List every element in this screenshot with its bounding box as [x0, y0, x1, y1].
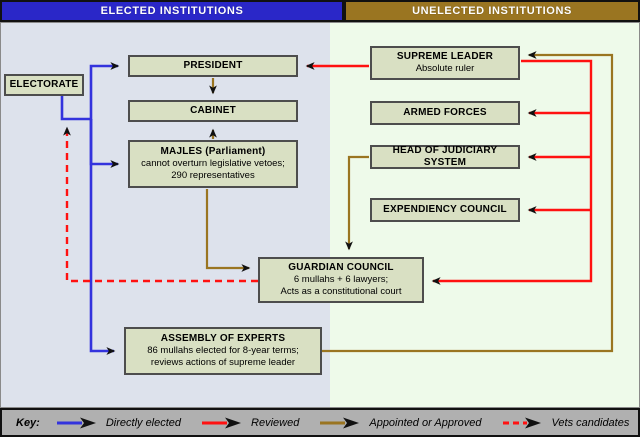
node-majles-line1: cannot overturn legislative vetoes;: [141, 158, 285, 170]
legend-arrow-reviewed-icon: [201, 416, 243, 430]
node-assembly-of-experts-line2: reviews actions of supreme leader: [151, 357, 295, 369]
legend-label-appointed-or-approved: Appointed or Approved: [369, 417, 481, 429]
node-supreme-leader[interactable]: SUPREME LEADER Absolute ruler: [370, 46, 520, 80]
node-assembly-of-experts-line1: 86 mullahs elected for 8-year terms;: [147, 345, 299, 357]
header-unelected-institutions: UNELECTED INSTITUTIONS: [344, 0, 640, 22]
legend-arrow-vets-candidates-icon: [501, 416, 543, 430]
legend-item-appointed-or-approved: Appointed or Approved: [319, 416, 481, 430]
node-guardian-council-title: GUARDIAN COUNCIL: [288, 262, 393, 274]
legend-item-directly-elected: Directly elected: [56, 416, 181, 430]
node-armed-forces[interactable]: ARMED FORCES: [370, 101, 520, 125]
node-majles-line2: 290 representatives: [171, 170, 254, 182]
node-guardian-council[interactable]: GUARDIAN COUNCIL 6 mullahs + 6 lawyers; …: [258, 257, 424, 303]
node-armed-forces-title: ARMED FORCES: [403, 107, 487, 119]
legend-label-directly-elected: Directly elected: [106, 417, 181, 429]
node-supreme-leader-title: SUPREME LEADER: [397, 51, 493, 63]
node-guardian-council-line1: 6 mullahs + 6 lawyers;: [294, 274, 388, 286]
node-expediency-council-title: EXPENDIENCY COUNCIL: [383, 204, 507, 216]
node-electorate[interactable]: ELECTORATE: [4, 74, 84, 96]
legend-item-reviewed: Reviewed: [201, 416, 299, 430]
legend-label-vets-candidates: Vets candidates: [551, 417, 629, 429]
node-assembly-of-experts-title: ASSEMBLY OF EXPERTS: [161, 333, 285, 345]
node-majles[interactable]: MAJLES (Parliament) cannot overturn legi…: [128, 140, 298, 188]
legend-key-label: Key:: [16, 417, 40, 429]
header-elected-institutions: ELECTED INSTITUTIONS: [0, 0, 344, 22]
diagram-canvas: ELECTED INSTITUTIONS UNELECTED INSTITUTI…: [0, 0, 640, 437]
legend-item-vets-candidates: Vets candidates: [501, 416, 629, 430]
node-head-of-judiciary-system-title: HEAD OF JUDICIARY SYSTEM: [372, 145, 518, 169]
node-president[interactable]: PRESIDENT: [128, 55, 298, 77]
legend-arrow-directly-elected-icon: [56, 416, 98, 430]
node-expediency-council[interactable]: EXPENDIENCY COUNCIL: [370, 198, 520, 222]
legend-label-reviewed: Reviewed: [251, 417, 299, 429]
node-assembly-of-experts[interactable]: ASSEMBLY OF EXPERTS 86 mullahs elected f…: [124, 327, 322, 375]
node-cabinet-title: CABINET: [190, 105, 236, 117]
node-majles-title: MAJLES (Parliament): [161, 146, 266, 158]
node-guardian-council-line2: Acts as a constitutional court: [281, 286, 402, 298]
legend-arrow-appointed-icon: [319, 416, 361, 430]
node-head-of-judiciary-system[interactable]: HEAD OF JUDICIARY SYSTEM: [370, 145, 520, 169]
node-electorate-title: ELECTORATE: [10, 79, 79, 91]
node-president-title: PRESIDENT: [183, 60, 242, 72]
node-supreme-leader-line1: Absolute ruler: [416, 63, 475, 75]
node-cabinet[interactable]: CABINET: [128, 100, 298, 122]
legend-bar: Key: Directly elected Reviewed Appointed…: [0, 408, 640, 437]
